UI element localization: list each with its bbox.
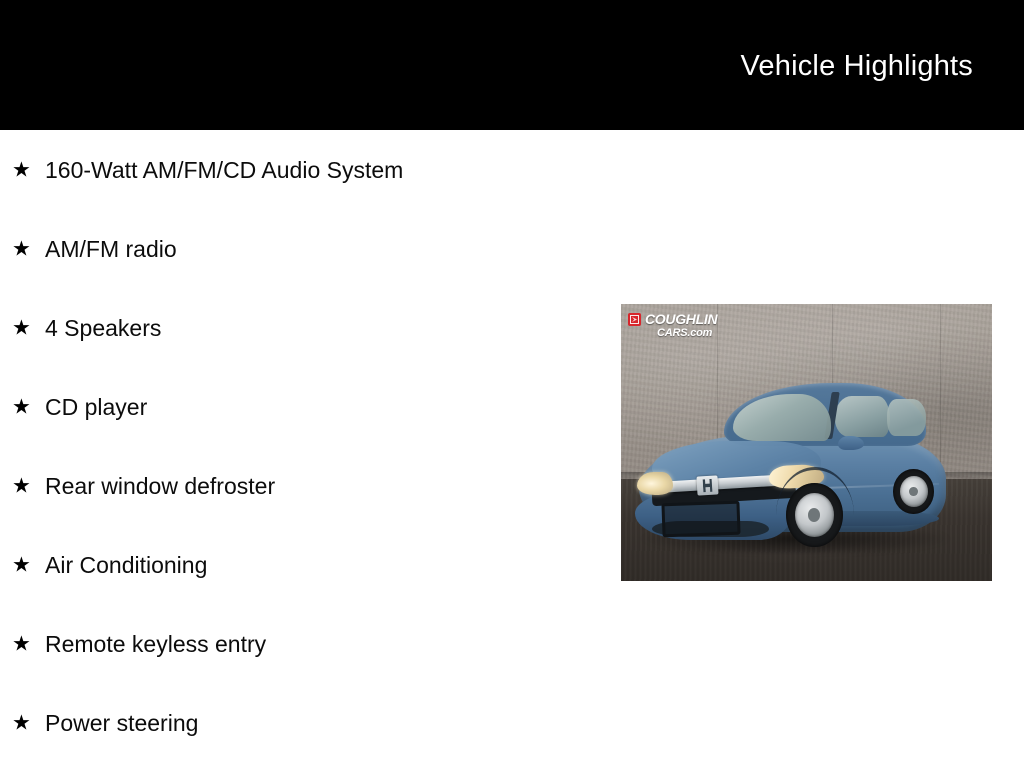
watermark-line1: COUGHLIN (645, 312, 717, 326)
star-bullet-icon: ★ (12, 238, 31, 259)
watermark-line2: CARS.com (657, 328, 717, 339)
list-item: ★ AM/FM radio (0, 209, 600, 288)
header-bar: Vehicle Highlights (0, 0, 1024, 130)
list-item: ★ Remote keyless entry (0, 604, 600, 683)
list-item: ★ 160-Watt AM/FM/CD Audio System (0, 130, 600, 209)
highlight-label: CD player (45, 393, 147, 421)
highlight-label: Air Conditioning (45, 551, 207, 579)
car-side-mirror (838, 436, 864, 450)
list-item: ★ Air Conditioning (0, 525, 600, 604)
honda-badge-icon (697, 475, 719, 495)
star-bullet-icon: ★ (12, 159, 31, 180)
star-bullet-icon: ★ (12, 712, 31, 733)
star-bullet-icon: ★ (12, 396, 31, 417)
star-bullet-icon: ★ (12, 317, 31, 338)
list-item: ★ CD player (0, 367, 600, 446)
star-bullet-icon: ★ (12, 475, 31, 496)
coughlin-logo-icon (628, 313, 641, 326)
star-bullet-icon: ★ (12, 633, 31, 654)
highlight-label: Remote keyless entry (45, 630, 266, 658)
vehicle-highlights-list: ★ 160-Watt AM/FM/CD Audio System ★ AM/FM… (0, 130, 600, 762)
car-headlight-left (637, 472, 673, 495)
car-illustration (632, 382, 958, 557)
vehicle-photo: COUGHLIN CARS.com (621, 304, 992, 581)
list-item: ★ Rear window defroster (0, 446, 600, 525)
car-license-plate-bracket (661, 501, 740, 538)
highlight-label: Power steering (45, 709, 198, 737)
page-title: Vehicle Highlights (740, 49, 973, 83)
highlight-label: AM/FM radio (45, 235, 177, 263)
highlight-label: 160-Watt AM/FM/CD Audio System (45, 156, 403, 184)
highlight-label: Rear window defroster (45, 472, 275, 500)
car-rim-front (795, 493, 834, 537)
dealer-watermark: COUGHLIN CARS.com (628, 312, 717, 339)
car-side-window-front (835, 396, 890, 438)
star-bullet-icon: ★ (12, 554, 31, 575)
car-side-window-rear (887, 399, 926, 436)
list-item: ★ Power steering (0, 683, 600, 762)
list-item: ★ 4 Speakers (0, 288, 600, 367)
car-rim-rear (900, 476, 928, 507)
car-wheel-rear (893, 469, 934, 514)
highlight-label: 4 Speakers (45, 314, 161, 342)
car-wheel-front (786, 483, 843, 548)
watermark-text: COUGHLIN CARS.com (645, 312, 717, 339)
